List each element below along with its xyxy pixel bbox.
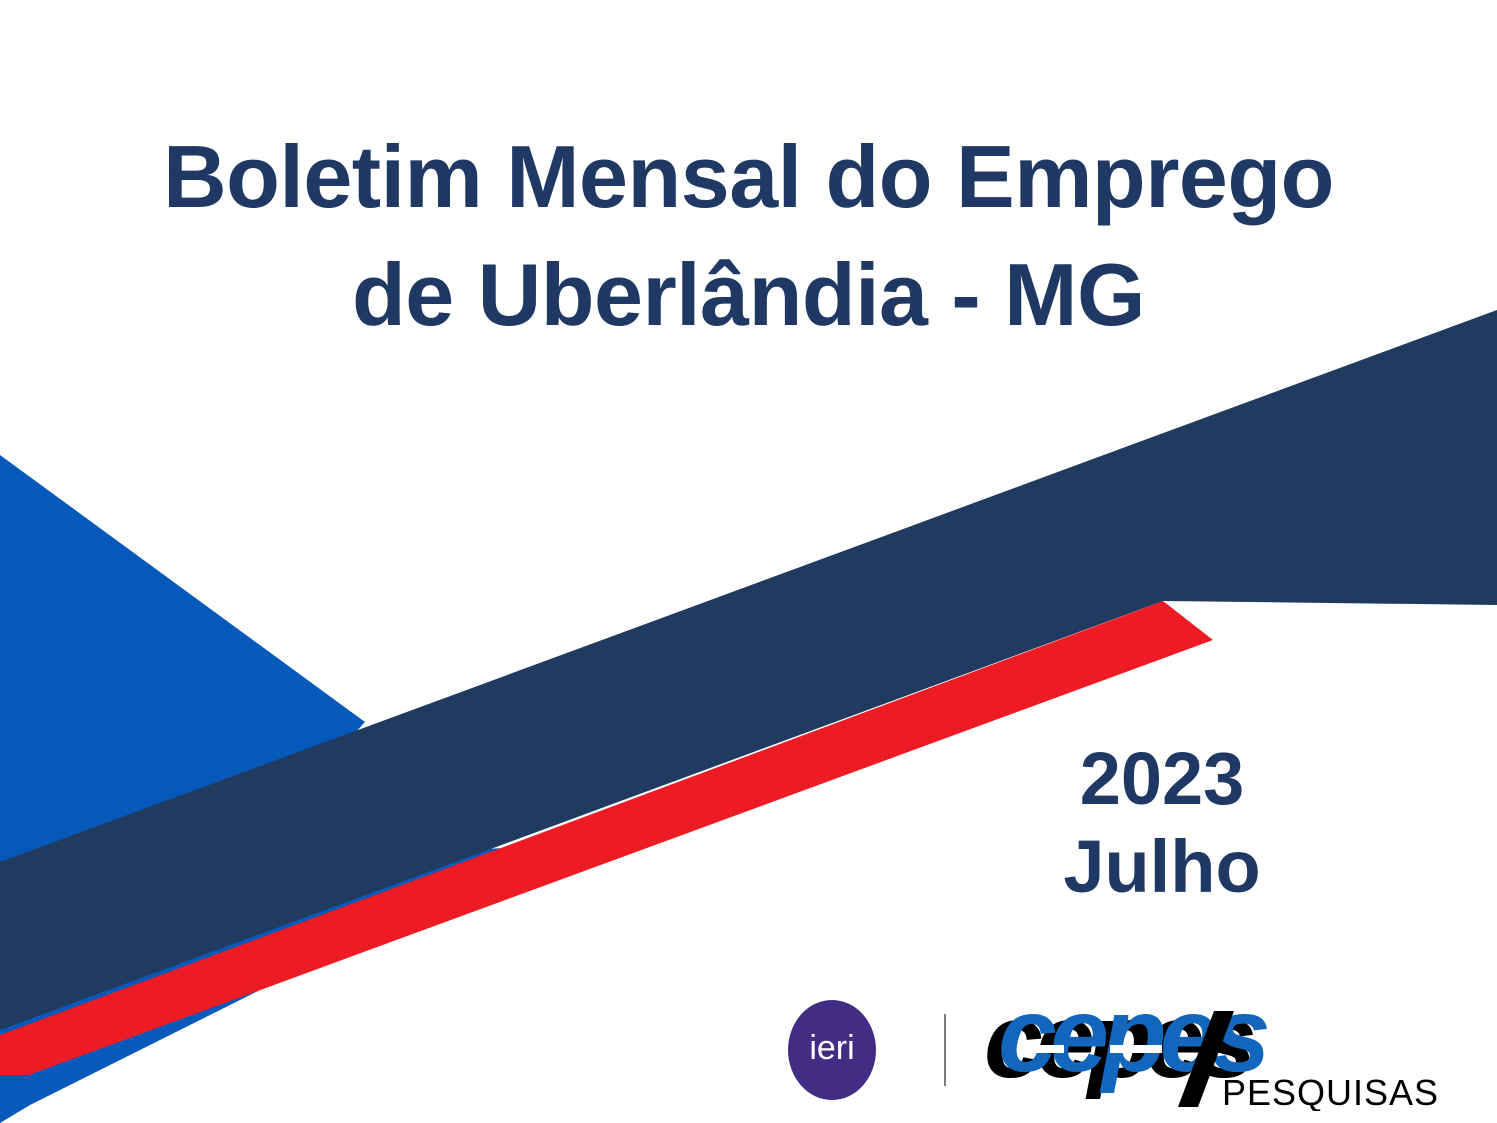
ieri-logo: ieri	[788, 1000, 876, 1100]
title-line-2: de Uberlândia - MG	[0, 236, 1497, 354]
ieri-logo-label: ieri	[788, 1000, 876, 1100]
cepes-logo: cepes cepes PESQUISAS	[982, 989, 1452, 1111]
cepes-logo-subtext: PESQUISAS	[1222, 1072, 1439, 1111]
logo-bar: ieri cepes cepes	[780, 985, 1470, 1115]
title-line-1: Boletim Mensal do Emprego	[0, 118, 1497, 236]
cover-page: Boletim Mensal do Emprego de Uberlândia …	[0, 0, 1497, 1123]
page-title: Boletim Mensal do Emprego de Uberlândia …	[0, 118, 1497, 354]
publication-year: 2023	[997, 735, 1327, 823]
logo-divider	[944, 1014, 946, 1086]
publication-date: 2023 Julho	[997, 735, 1327, 911]
publication-month: Julho	[997, 823, 1327, 911]
